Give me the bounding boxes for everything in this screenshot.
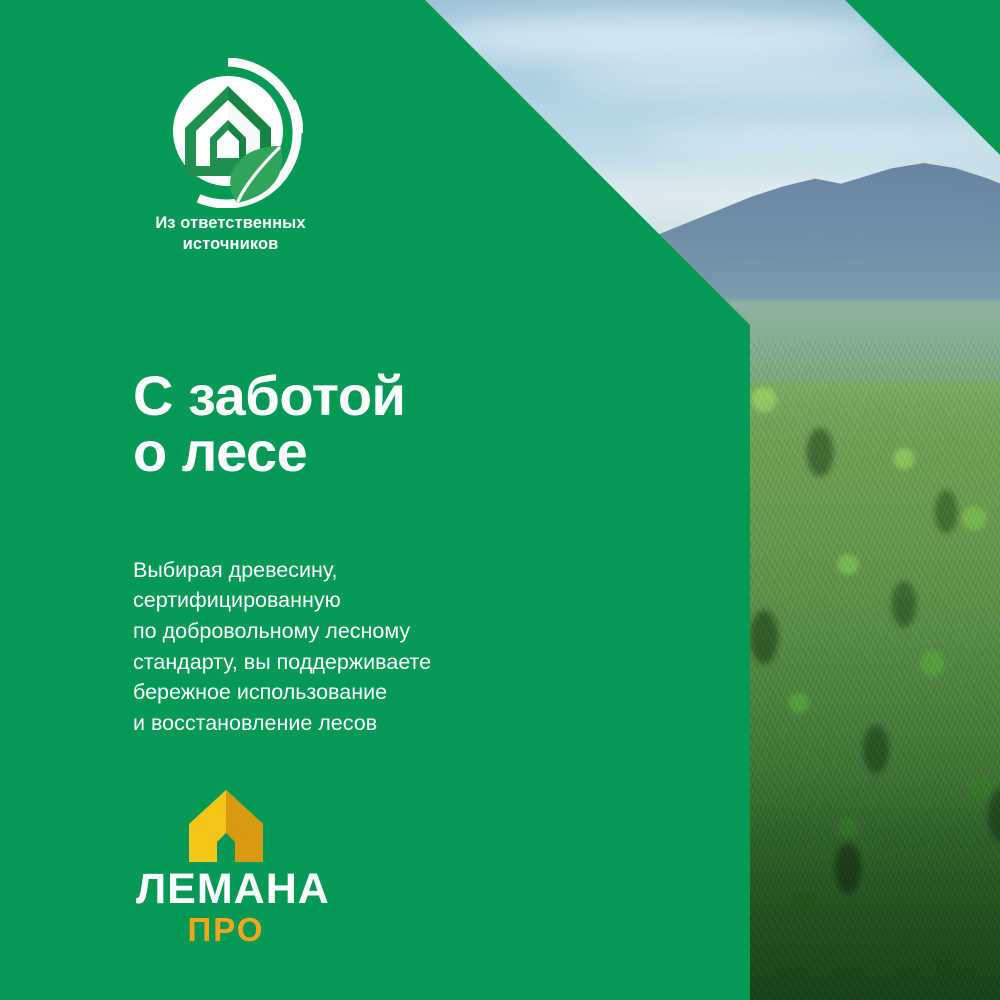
eco-house-leaf-circle-logo [153,58,303,208]
cloud [430,14,890,62]
lemana-house-icon [189,790,263,862]
lemana-wordmark: ЛЕМАНА [136,868,316,911]
lemana-pro-logo: ЛЕМАНА ПРО [136,790,316,946]
page-title: С заботой о лесе [133,368,405,480]
eco-badge-caption: Из ответственных источников [118,213,343,255]
poster-canvas: Из ответственных источников С заботой о … [0,0,1000,1000]
body-paragraph: Выбирая древесину, сертифицированную по … [133,555,553,739]
pro-wordmark: ПРО [136,913,316,946]
cloud [640,120,1000,160]
